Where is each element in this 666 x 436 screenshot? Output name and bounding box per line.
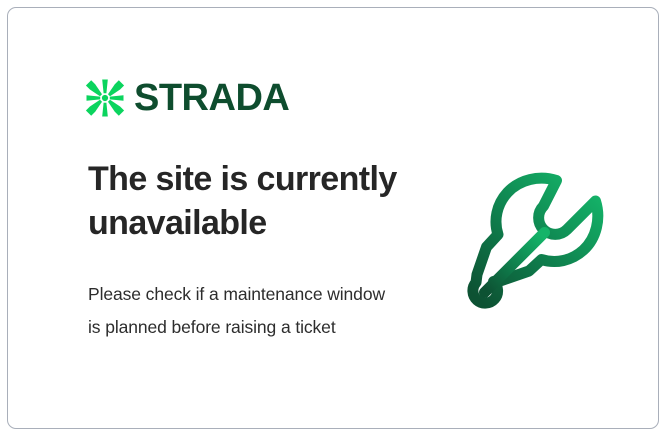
- brand-wordmark: STRADA: [134, 79, 289, 117]
- page-title: The site is currently unavailable: [88, 158, 418, 245]
- maintenance-illustration: [455, 158, 625, 323]
- brand-logo: STRADA: [85, 78, 289, 118]
- status-card: STRADA The site is currently unavailable…: [7, 7, 659, 429]
- page-root: STRADA The site is currently unavailable…: [0, 0, 666, 436]
- wrench-icon: [455, 158, 625, 323]
- page-description: Please check if a maintenance window is …: [88, 278, 398, 344]
- strada-asterisk-icon: [85, 78, 125, 118]
